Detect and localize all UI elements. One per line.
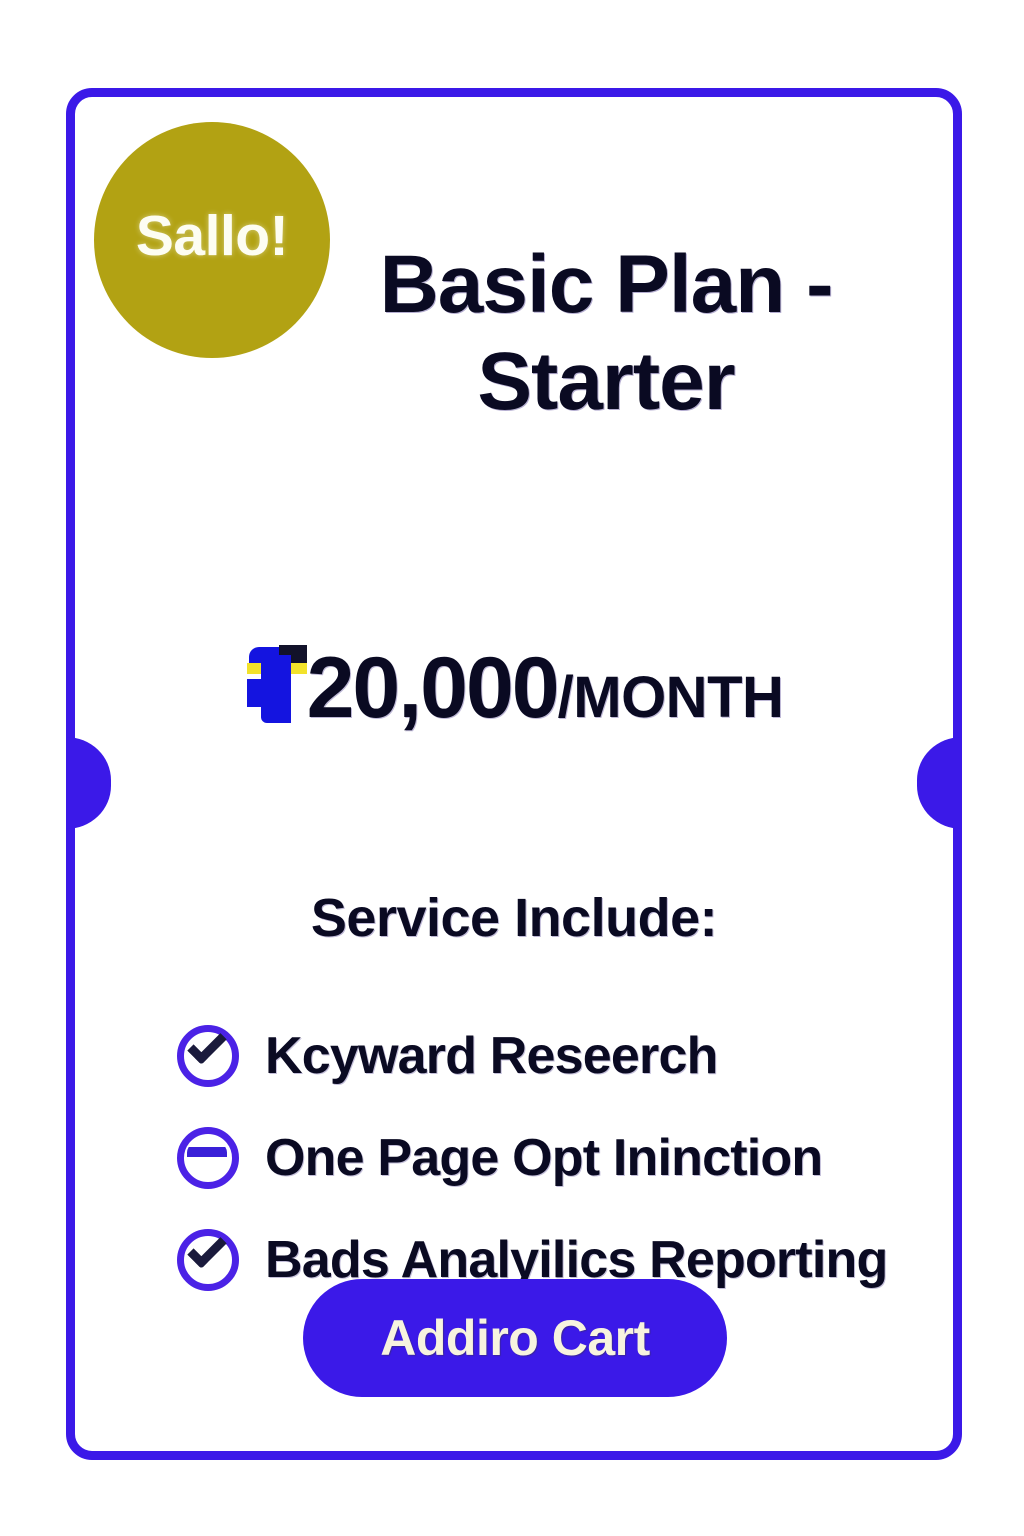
list-item: Kcyward Reseerch xyxy=(173,1005,983,1107)
add-to-cart-button[interactable]: Addiro Cart xyxy=(303,1279,727,1397)
sale-badge: Sallo! xyxy=(94,122,330,358)
price-row: 20,000 /MONTH xyxy=(75,633,953,738)
plan-title-line-1: Basic Plan - xyxy=(380,239,833,330)
left-notch-half-circle xyxy=(66,737,111,829)
check-circle-icon xyxy=(173,1021,243,1091)
pricing-card: Sallo! Basic Plan - Starter 20,000 /MONT… xyxy=(66,88,962,1460)
right-notch-half-circle xyxy=(917,737,962,829)
features-list: Kcyward Reseerch One Page Opt Ininction … xyxy=(173,1005,983,1311)
arc-circle-icon xyxy=(173,1123,243,1193)
plan-title-line-2: Starter xyxy=(477,336,734,427)
feature-label: One Page Opt Ininction xyxy=(265,1128,822,1188)
sale-badge-label: Sallo! xyxy=(136,203,288,269)
price-amount: 20,000 xyxy=(307,639,558,738)
services-heading: Service Include: xyxy=(75,887,953,949)
pricing-card-canvas: Sallo! Basic Plan - Starter 20,000 /MONT… xyxy=(0,0,1024,1536)
price-period: /MONTH xyxy=(558,664,784,731)
list-item: One Page Opt Ininction xyxy=(173,1107,983,1209)
check-circle-icon xyxy=(173,1225,243,1295)
feature-label: Kcyward Reseerch xyxy=(265,1026,718,1086)
taka-currency-icon xyxy=(245,639,309,723)
